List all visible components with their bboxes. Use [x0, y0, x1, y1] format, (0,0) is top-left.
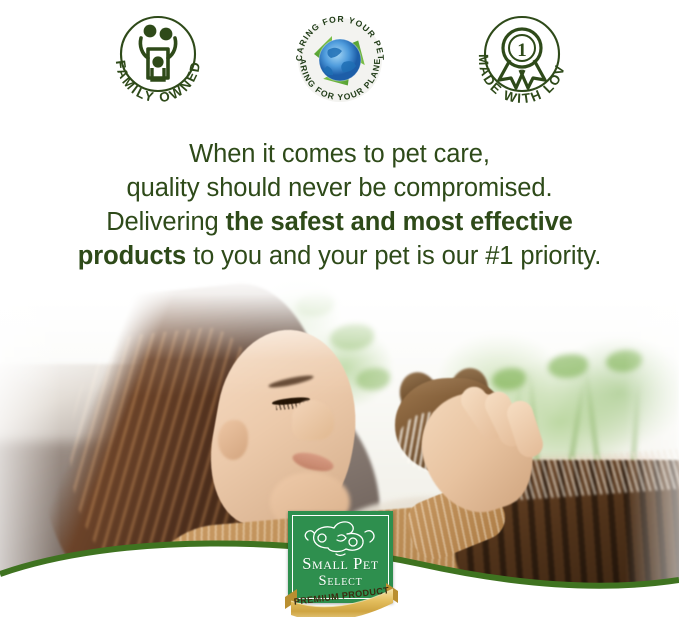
trust-badge-row: FAMILY OWNED [0, 4, 679, 122]
headline-line-4-bold: products [78, 242, 186, 270]
woman-ear [218, 420, 248, 460]
headline-line-3-regular: Delivering [106, 208, 225, 236]
headline-line-4-regular: to you and your pet is our #1 priority. [186, 242, 601, 270]
logo-line-1: Small Pet [288, 555, 393, 573]
badge-caring-planet: CARING FOR YOUR PET CARING FOR YOUR PLAN… [284, 4, 396, 116]
headline-line-1: When it comes to pet care, [18, 137, 661, 171]
award-ribbon-icon: 1 MADE WITH LOVE [466, 4, 578, 116]
badge-made-with-love: 1 MADE WITH LOVE [466, 4, 578, 116]
headline-line-2: quality should never be compromised. [18, 171, 661, 205]
badge-number: 1 [517, 40, 527, 61]
headline-line-3-bold: the safest and most effective [226, 208, 573, 236]
premium-ribbon [283, 583, 400, 617]
headline-line-4: products to you and your pet is our #1 p… [18, 239, 661, 273]
family-icon: FAMILY OWNED [102, 4, 214, 116]
woman-nose [292, 400, 334, 440]
rabbit-ornament-icon [298, 518, 383, 558]
brand-logo[interactable]: Small Pet Select PREMIUM PRODUCT [283, 511, 400, 621]
headline-line-3: Delivering the safest and most effective [18, 205, 661, 239]
headline-block: When it comes to pet care, quality shoul… [0, 137, 679, 273]
recycle-globe-icon: CARING FOR YOUR PET CARING FOR YOUR PLAN… [284, 4, 396, 116]
promo-image: FAMILY OWNED [0, 0, 679, 638]
badge-family-owned: FAMILY OWNED [102, 4, 214, 116]
